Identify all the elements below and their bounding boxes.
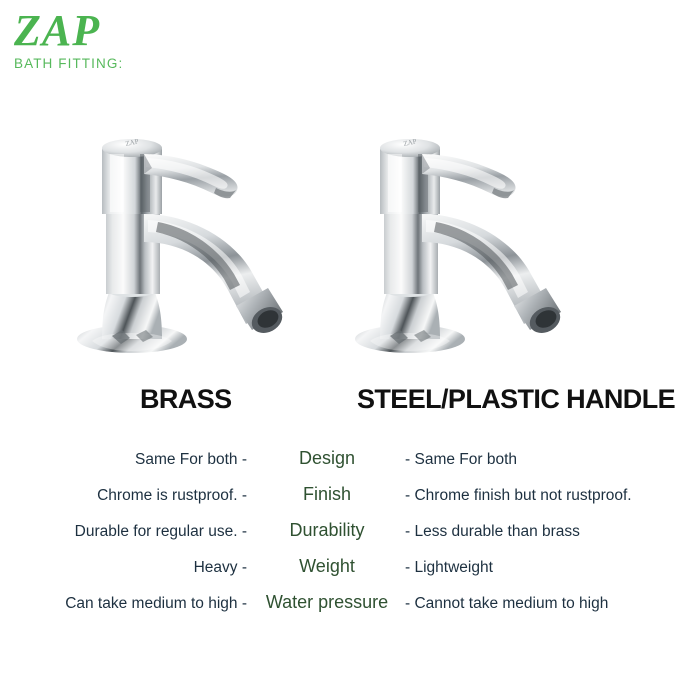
row-right-text: Lightweight (414, 559, 492, 576)
row-right-dash: - (405, 487, 410, 504)
row-left-dash: - (242, 523, 247, 540)
row-left-text: Can take medium to high (65, 595, 237, 612)
row-left-value-finish: Chrome is rustproof. - (0, 487, 251, 505)
table-row: Can take medium to high - Water pressure… (0, 592, 679, 628)
row-left-value-design: Same For both - (0, 451, 251, 469)
product-heading-steel-plastic-handle: STEEL/PLASTIC HANDLE (357, 383, 675, 415)
row-left-value-weight: Heavy - (0, 559, 251, 577)
chrome-faucet-illustration: ZAP (40, 62, 340, 362)
row-label-water-pressure: Water pressure (251, 592, 403, 613)
row-left-value-water-pressure: Can take medium to high - (0, 595, 251, 613)
row-right-text: Same For both (414, 451, 517, 468)
row-right-value-durability: - Less durable than brass (403, 523, 679, 541)
row-right-text: Chrome finish but not rustproof. (414, 487, 631, 504)
table-row: Durable for regular use. - Durability - … (0, 520, 679, 556)
row-right-dash: - (405, 523, 410, 540)
row-left-text: Durable for regular use. (75, 523, 238, 540)
row-left-dash: - (242, 451, 247, 468)
row-label-design: Design (251, 448, 403, 469)
table-row: Same For both - Design - Same For both (0, 448, 679, 484)
row-right-value-finish: - Chrome finish but not rustproof. (403, 487, 679, 505)
brand-logo-wordmark: ZAP (14, 8, 174, 54)
row-right-value-weight: - Lightweight (403, 559, 679, 577)
row-right-value-design: - Same For both (403, 451, 679, 469)
table-row: Chrome is rustproof. - Finish - Chrome f… (0, 484, 679, 520)
comparison-table: Same For both - Design - Same For both C… (0, 448, 679, 628)
product-image-brass: ZAP (40, 62, 340, 362)
row-left-dash: - (242, 559, 247, 576)
row-left-text: Same For both (135, 451, 238, 468)
row-left-text: Heavy (194, 559, 238, 576)
row-right-text: Less durable than brass (414, 523, 579, 540)
row-left-dash: - (242, 595, 247, 612)
row-label-weight: Weight (251, 556, 403, 577)
row-left-dash: - (242, 487, 247, 504)
row-label-durability: Durability (251, 520, 403, 541)
row-right-value-water-pressure: - Cannot take medium to high (403, 595, 679, 613)
row-left-value-durability: Durable for regular use. - (0, 523, 251, 541)
chrome-faucet-illustration: ZAP (318, 62, 618, 362)
row-left-text: Chrome is rustproof. (97, 487, 237, 504)
row-right-dash: - (405, 559, 410, 576)
product-heading-brass: BRASS (140, 383, 232, 415)
table-row: Heavy - Weight - Lightweight (0, 556, 679, 592)
row-label-finish: Finish (251, 484, 403, 505)
row-right-dash: - (405, 595, 410, 612)
row-right-text: Cannot take medium to high (414, 595, 608, 612)
row-right-dash: - (405, 451, 410, 468)
product-image-steel-plastic-handle: ZAP (318, 62, 618, 362)
